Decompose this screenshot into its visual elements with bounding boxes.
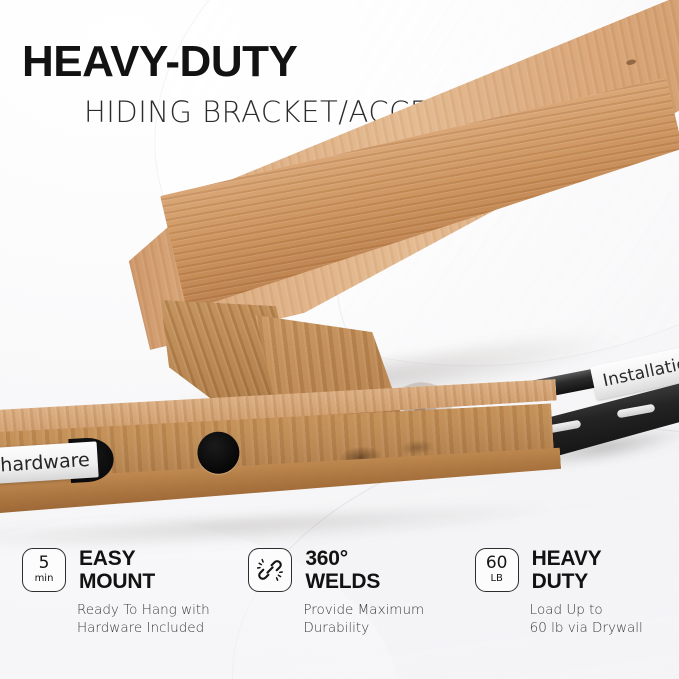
feature-title-line2: WELDS [305, 571, 380, 594]
feature-badges: 5 min EASY MOUNT Ready To Hang with Hard… [0, 548, 679, 668]
sixty-pound-icon-unit: LB [490, 573, 502, 586]
weld-chain-link-icon [248, 548, 292, 592]
feature-title: HEAVY DUTY [532, 548, 602, 593]
feature-subtitle: Load Up to 60 lb via Drywall [530, 602, 679, 637]
feature-subtitle-line2: Durability [303, 620, 452, 637]
feature-title-line1: HEAVY [532, 548, 602, 571]
installation-label-lower-text: ion hardware [0, 449, 90, 479]
feature-subtitle-line1: Provide Maximum [303, 602, 452, 619]
five-minute-icon-value: 5 [39, 555, 50, 572]
sixty-pound-icon: 60 LB [475, 548, 519, 592]
five-minute-icon-unit: min [35, 573, 54, 586]
feature-subtitle-line2: 60 lb via Drywall [530, 620, 679, 637]
feature-subtitle: Ready To Hang with Hardware Included [77, 602, 226, 637]
wood-knot [626, 59, 637, 66]
feature-360-welds: 360° WELDS Provide Maximum Durability [226, 548, 452, 668]
sixty-pound-icon-value: 60 [486, 555, 508, 572]
feature-title-line2: DUTY [532, 571, 602, 594]
feature-subtitle-line1: Load Up to [530, 602, 679, 619]
product-marketing-image: HEAVY-DUTY HIDING BRACKET/ACCESSORY Inst… [0, 0, 679, 679]
feature-title-line1: 360° [305, 548, 380, 571]
feature-title-line2: MOUNT [79, 571, 155, 594]
feature-title: 360° WELDS [305, 548, 380, 593]
feature-subtitle: Provide Maximum Durability [303, 602, 452, 637]
feature-heavy-duty: 60 LB HEAVY DUTY Load Up to 60 lb via Dr… [453, 548, 679, 668]
feature-title: EASY MOUNT [79, 548, 155, 593]
feature-title-line1: EASY [79, 548, 155, 571]
feature-subtitle-line1: Ready To Hang with [77, 602, 226, 619]
five-minute-icon: 5 min [22, 548, 66, 592]
hero-product-image: Installatio [0, 110, 679, 400]
feature-subtitle-line2: Hardware Included [77, 620, 226, 637]
feature-easy-mount: 5 min EASY MOUNT Ready To Hang with Hard… [0, 548, 226, 668]
